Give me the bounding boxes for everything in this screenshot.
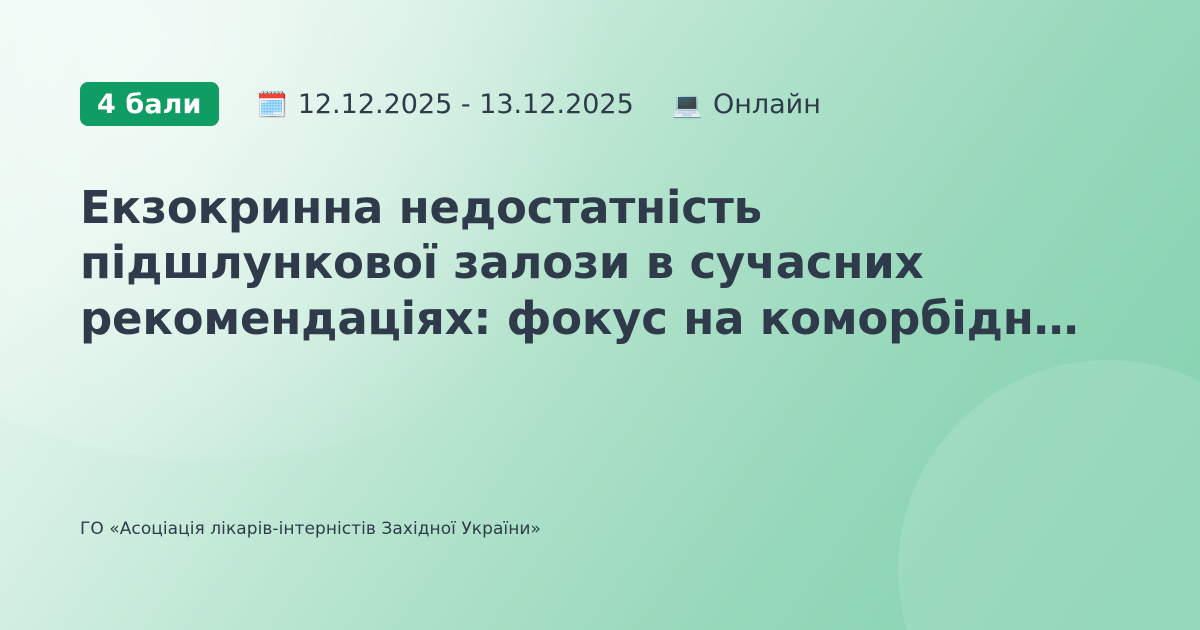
event-format: 💻 Онлайн bbox=[672, 91, 821, 118]
card-content: 4 бали 🗓️ 12.12.2025 - 13.12.2025 💻 Онла… bbox=[0, 0, 1200, 630]
event-card: 4 бали 🗓️ 12.12.2025 - 13.12.2025 💻 Онла… bbox=[0, 0, 1200, 630]
event-date-label: 12.12.2025 - 13.12.2025 bbox=[298, 91, 634, 118]
meta-row: 4 бали 🗓️ 12.12.2025 - 13.12.2025 💻 Онла… bbox=[80, 80, 1120, 128]
event-format-label: Онлайн bbox=[713, 91, 821, 118]
calendar-icon: 🗓️ bbox=[257, 92, 288, 117]
laptop-icon: 💻 bbox=[672, 92, 703, 117]
organizer-name: ГО «Асоціація лікарів-інтерністів Західн… bbox=[80, 518, 1120, 588]
event-title: Екзокринна недостатність підшлункової за… bbox=[80, 128, 1120, 346]
event-date: 🗓️ 12.12.2025 - 13.12.2025 bbox=[257, 91, 634, 118]
layout-spacer bbox=[80, 346, 1120, 518]
credit-points-badge: 4 бали bbox=[80, 82, 219, 126]
